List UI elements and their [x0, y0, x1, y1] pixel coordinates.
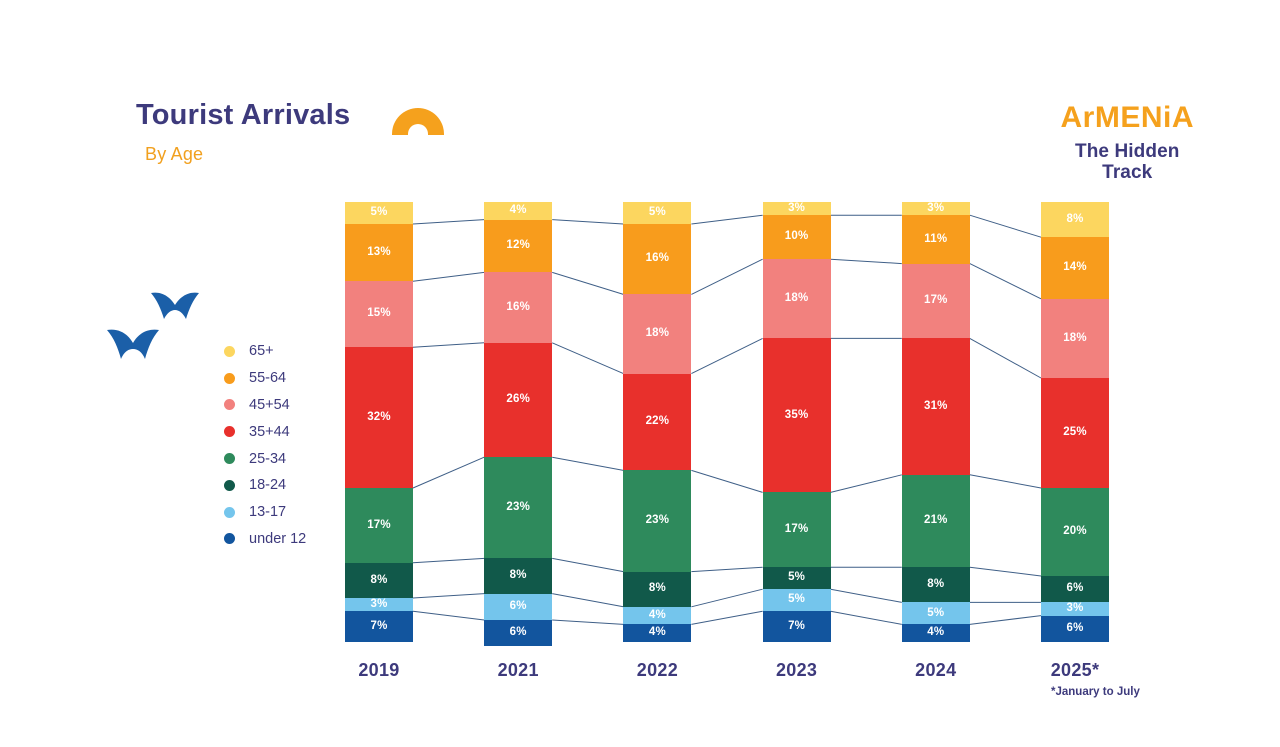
bar-segment[interactable]: 10%: [763, 215, 831, 259]
brand-logo: ArMENiA The Hidden Track: [1060, 103, 1194, 184]
bar-segment-value: 6%: [510, 627, 527, 639]
bar-column: 4%12%16%26%23%8%6%6%: [484, 202, 552, 642]
legend-color-swatch: [224, 533, 235, 544]
connector-line: [413, 343, 484, 347]
connector-line: [413, 457, 484, 488]
legend-color-swatch: [224, 480, 235, 491]
bar-segment[interactable]: 4%: [623, 624, 691, 642]
connector-line: [552, 457, 623, 470]
connector-line: [970, 567, 1041, 576]
connector-line: [970, 475, 1041, 488]
bar-segment-value: 14%: [1063, 262, 1087, 274]
bar-segment[interactable]: 32%: [345, 347, 413, 488]
bar-segment-value: 13%: [367, 247, 391, 259]
connector-line: [831, 611, 902, 624]
bar-segment[interactable]: 14%: [1041, 237, 1109, 299]
connector-line: [413, 558, 484, 562]
bar-segment[interactable]: 35%: [763, 338, 831, 492]
legend-item[interactable]: 13-17: [224, 499, 344, 526]
bar-segment-value: 32%: [367, 412, 391, 424]
infographic-root: Tourist Arrivals By Age ArMENiA The Hidd…: [0, 0, 1280, 747]
bar-segment-value: 6%: [510, 601, 527, 613]
title-block: Tourist Arrivals By Age: [136, 100, 350, 165]
connector-line: [552, 343, 623, 374]
bar-segment-value: 5%: [927, 608, 944, 620]
connector-line: [831, 589, 902, 602]
bar-segment[interactable]: 18%: [763, 259, 831, 338]
connector-line: [970, 616, 1041, 625]
bar-segment[interactable]: 3%: [763, 202, 831, 215]
legend-item[interactable]: under 12: [224, 526, 344, 553]
legend-item-label: 18-24: [249, 477, 286, 493]
legend-item[interactable]: 65+: [224, 338, 344, 365]
brand-tagline-line1: The Hidden: [1060, 141, 1194, 162]
connector-line: [970, 215, 1041, 237]
bar-segment[interactable]: 23%: [623, 470, 691, 571]
legend-item-label: 25-34: [249, 451, 286, 467]
bar-segment-value: 22%: [646, 416, 670, 428]
connector-line: [691, 259, 762, 294]
bar-segment-value: 25%: [1063, 427, 1087, 439]
connector-line: [413, 220, 484, 224]
bar-segment-value: 17%: [785, 524, 809, 536]
connector-line: [552, 558, 623, 571]
bar-segment-value: 18%: [646, 328, 670, 340]
x-axis-label: 2025*: [1041, 660, 1109, 681]
bar-column: 3%11%17%31%21%8%5%4%: [902, 202, 970, 642]
legend-color-swatch: [224, 453, 235, 464]
bar-segment[interactable]: 17%: [902, 264, 970, 339]
bar-segment-value: 31%: [924, 401, 948, 413]
bar-segment-value: 5%: [788, 594, 805, 606]
legend-color-swatch: [224, 399, 235, 410]
bar-segment[interactable]: 20%: [1041, 488, 1109, 576]
bar-segment[interactable]: 4%: [902, 624, 970, 642]
bar-segment[interactable]: 31%: [902, 338, 970, 474]
bar-segment[interactable]: 5%: [902, 602, 970, 624]
bar-segment[interactable]: 6%: [484, 620, 552, 646]
bar-segment[interactable]: 8%: [484, 558, 552, 593]
legend-item[interactable]: 35+44: [224, 418, 344, 445]
legend-item-label: 45+54: [249, 397, 290, 413]
bar-segment-value: 23%: [646, 515, 670, 527]
bar-segment-value: 21%: [924, 515, 948, 527]
legend-color-swatch: [224, 507, 235, 518]
bar-segment-value: 23%: [506, 502, 530, 514]
bar-segment[interactable]: 18%: [623, 294, 691, 373]
bar-segment-value: 8%: [927, 579, 944, 591]
bar-segment[interactable]: 6%: [1041, 616, 1109, 642]
legend-color-swatch: [224, 426, 235, 437]
bar-segment-value: 16%: [646, 253, 670, 265]
bar-segment[interactable]: 17%: [763, 492, 831, 567]
legend-color-swatch: [224, 373, 235, 384]
brand-tagline: The Hidden Track: [1060, 141, 1194, 184]
bar-segment-value: 7%: [788, 621, 805, 633]
bar-segment-value: 17%: [924, 295, 948, 307]
bar-segment[interactable]: 8%: [902, 567, 970, 602]
legend-item-label: 55-64: [249, 370, 286, 386]
legend-item[interactable]: 55-64: [224, 365, 344, 392]
connector-line: [413, 611, 484, 620]
bar-segment-value: 3%: [1066, 603, 1083, 615]
chart-legend: 65+55-6445+5435+4425-3418-2413-17under 1…: [224, 338, 344, 552]
bar-segment[interactable]: 23%: [484, 457, 552, 558]
bar-segment-value: 4%: [927, 627, 944, 639]
bar-segment[interactable]: 16%: [623, 224, 691, 294]
bar-segment[interactable]: 22%: [623, 374, 691, 471]
bar-segment-value: 18%: [785, 293, 809, 305]
connector-line: [970, 264, 1041, 299]
bar-column: 8%14%18%25%20%6%3%6%: [1041, 202, 1109, 642]
bar-segment[interactable]: 5%: [623, 202, 691, 224]
bar-segment-value: 4%: [649, 627, 666, 639]
bar-segment[interactable]: 8%: [345, 563, 413, 598]
connector-line: [970, 338, 1041, 378]
connector-line: [691, 470, 762, 492]
bar-segment-value: 5%: [370, 207, 387, 219]
connector-line: [552, 620, 623, 624]
bar-segment[interactable]: 5%: [763, 589, 831, 611]
bar-segment-value: 8%: [370, 575, 387, 587]
bar-segment[interactable]: 11%: [902, 215, 970, 263]
connector-line: [413, 272, 484, 281]
bar-segment-value: 8%: [649, 583, 666, 595]
bar-segment-value: 3%: [788, 203, 805, 215]
bar-segment-value: 16%: [506, 302, 530, 314]
legend-item-label: under 12: [249, 531, 306, 547]
bar-segment[interactable]: 7%: [345, 611, 413, 642]
legend-item-label: 35+44: [249, 424, 290, 440]
page-subtitle: By Age: [145, 144, 350, 165]
bar-segment-value: 8%: [1066, 214, 1083, 226]
legend-item-label: 65+: [249, 343, 274, 359]
connector-line: [552, 272, 623, 294]
chart-footnote: *January to July: [1051, 686, 1140, 698]
bar-segment[interactable]: 8%: [1041, 202, 1109, 237]
bar-column: 3%10%18%35%17%5%5%7%: [763, 202, 831, 642]
bar-segment[interactable]: 26%: [484, 343, 552, 457]
brand-name: ArMENiA: [1060, 103, 1194, 133]
page-title: Tourist Arrivals: [136, 100, 350, 132]
bar-column: 5%16%18%22%23%8%4%4%: [623, 202, 691, 642]
bar-segment[interactable]: 15%: [345, 281, 413, 347]
bar-segment[interactable]: 3%: [1041, 602, 1109, 615]
bar-segment[interactable]: 21%: [902, 475, 970, 567]
bar-segment[interactable]: 5%: [345, 202, 413, 224]
brand-tagline-line2: Track: [1060, 162, 1194, 183]
bar-segment[interactable]: 16%: [484, 272, 552, 342]
bar-segment-value: 18%: [1063, 333, 1087, 345]
legend-color-swatch: [224, 346, 235, 357]
bar-column: 5%13%15%32%17%8%3%7%: [345, 202, 413, 642]
bar-segment[interactable]: 6%: [1041, 576, 1109, 602]
bar-segment[interactable]: 5%: [763, 567, 831, 589]
bar-segment-value: 6%: [1066, 623, 1083, 635]
bar-segment-value: 4%: [649, 610, 666, 622]
bar-segment-value: 20%: [1063, 526, 1087, 538]
legend-item[interactable]: 18-24: [224, 472, 344, 499]
bar-segment[interactable]: 4%: [484, 202, 552, 220]
connector-line: [552, 220, 623, 224]
bar-segment[interactable]: 13%: [345, 224, 413, 281]
connector-line: [691, 589, 762, 607]
x-axis-label: 2021: [484, 660, 552, 681]
connector-line: [691, 611, 762, 624]
connector-line: [691, 567, 762, 571]
bar-segment-value: 17%: [367, 520, 391, 532]
bar-segment[interactable]: 3%: [902, 202, 970, 215]
bar-segment[interactable]: 7%: [763, 611, 831, 642]
bar-segment-value: 6%: [1066, 583, 1083, 595]
connector-line: [413, 594, 484, 598]
x-axis-label: 2024: [902, 660, 970, 681]
bar-segment-value: 10%: [785, 231, 809, 243]
bar-segment-value: 3%: [927, 203, 944, 215]
connector-line: [831, 475, 902, 493]
bar-segment[interactable]: 6%: [484, 594, 552, 620]
bar-segment-value: 7%: [370, 621, 387, 633]
bar-segment[interactable]: 18%: [1041, 299, 1109, 378]
bar-segment[interactable]: 8%: [623, 572, 691, 607]
x-axis-label: 2019: [345, 660, 413, 681]
bar-segment-value: 12%: [506, 240, 530, 252]
bar-segment-value: 5%: [649, 207, 666, 219]
connector-line: [552, 594, 623, 607]
bar-segment-value: 4%: [510, 205, 527, 217]
connector-line: [691, 215, 762, 224]
bar-segment-value: 11%: [924, 234, 947, 246]
x-axis-label: 2023: [763, 660, 831, 681]
bar-segment-value: 15%: [367, 308, 391, 320]
bar-segment-value: 3%: [370, 599, 387, 611]
bar-segment[interactable]: 25%: [1041, 378, 1109, 488]
connector-line: [691, 338, 762, 373]
legend-item[interactable]: 45+54: [224, 392, 344, 419]
bar-segment-value: 5%: [788, 572, 805, 584]
legend-item-label: 13-17: [249, 504, 286, 520]
x-axis-label: 2022: [623, 660, 691, 681]
legend-item[interactable]: 25-34: [224, 445, 344, 472]
bar-segment[interactable]: 4%: [623, 607, 691, 625]
connector-line: [831, 259, 902, 263]
bar-segment[interactable]: 12%: [484, 220, 552, 273]
arch-icon: [392, 108, 444, 135]
bar-segment[interactable]: 3%: [345, 598, 413, 611]
bar-segment[interactable]: 17%: [345, 488, 413, 563]
bar-segment-value: 8%: [510, 570, 527, 582]
bar-segment-value: 26%: [506, 394, 530, 406]
bar-segment-value: 35%: [785, 410, 809, 422]
